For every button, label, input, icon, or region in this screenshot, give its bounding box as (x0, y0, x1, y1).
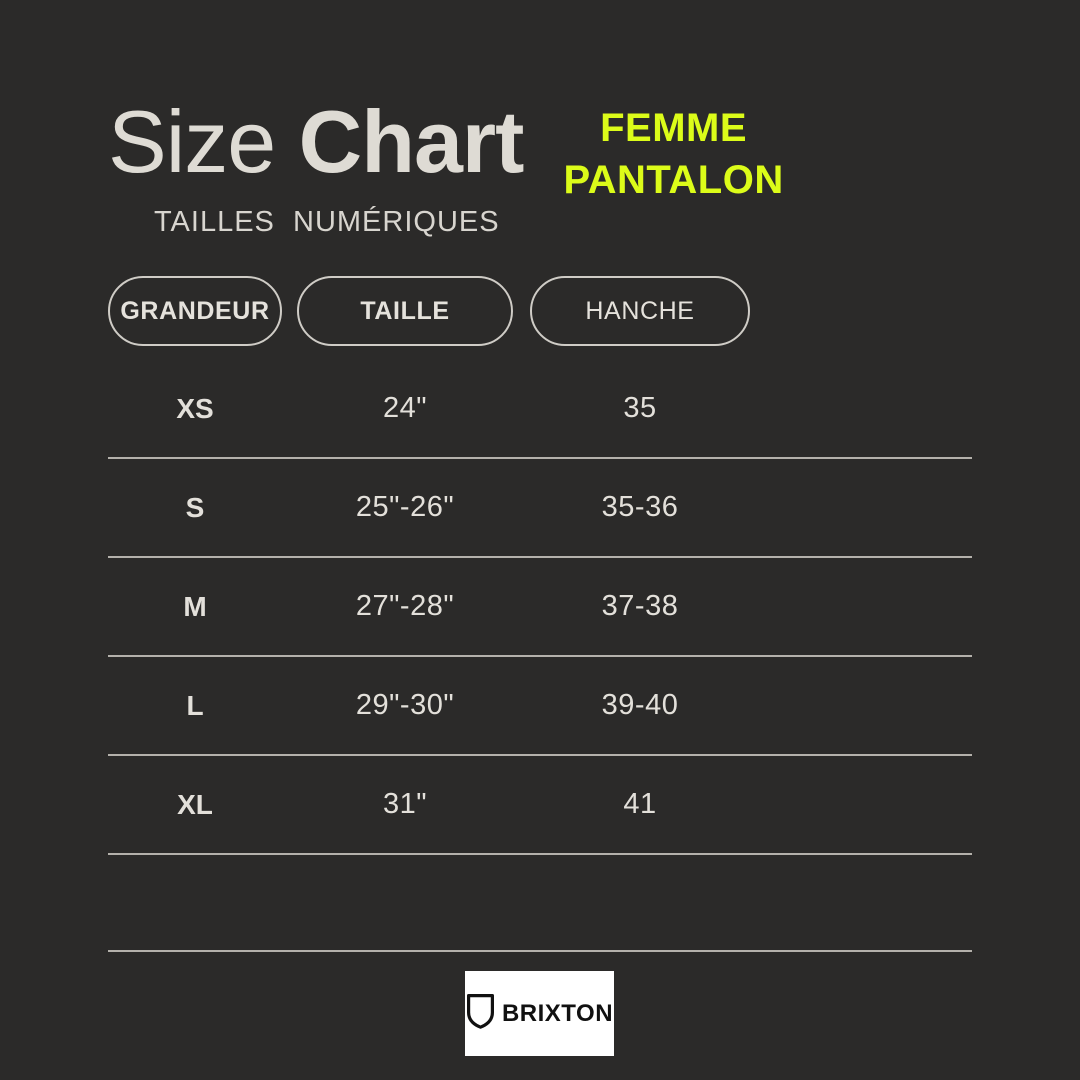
page-title-light: Size (108, 92, 275, 191)
cell-hanche: 35-36 (530, 459, 750, 556)
cell-grandeur: XL (108, 756, 282, 853)
cell-grandeur: S (108, 459, 282, 556)
cell-taille: 24" (297, 360, 513, 457)
column-header-grandeur: GRANDEUR (108, 276, 282, 346)
page-title: Size Chart (108, 96, 523, 188)
cell-grandeur: L (108, 657, 282, 754)
brixton-logo: BRIXTON (465, 971, 614, 1056)
table-bottom-rule (108, 950, 972, 952)
table-row: XL 31" 41 (108, 754, 972, 853)
table-row: XS 24" 35 (108, 360, 972, 457)
size-table: XS 24" 35 S 25"-26" 35-36 M 27"-28" 37-3… (108, 360, 972, 952)
category-label: FEMME PANTALON (563, 102, 783, 206)
cell-hanche: 35 (530, 360, 750, 457)
table-spacer-row (108, 853, 972, 950)
category-line-1: FEMME (563, 102, 783, 154)
logo-inner: BRIXTON (466, 993, 613, 1034)
cell-hanche: 39-40 (530, 657, 750, 754)
shield-icon (466, 993, 495, 1034)
chart-header: Size Chart FEMME PANTALON TAILLES NUMÉRI… (108, 96, 988, 246)
title-row: Size Chart FEMME PANTALON (108, 96, 784, 206)
table-row: S 25"-26" 35-36 (108, 457, 972, 556)
cell-taille: 25"-26" (297, 459, 513, 556)
cell-taille: 29"-30" (297, 657, 513, 754)
cell-hanche: 37-38 (530, 558, 750, 655)
size-chart-page: { "theme": { "background": "#2b2a29", "t… (0, 0, 1080, 1080)
cell-grandeur: M (108, 558, 282, 655)
page-title-bold: Chart (299, 92, 524, 191)
column-header-pills: GRANDEUR TAILLE HANCHE (108, 276, 988, 348)
column-header-taille: TAILLE (297, 276, 513, 346)
table-row: M 27"-28" 37-38 (108, 556, 972, 655)
table-row: L 29"-30" 39-40 (108, 655, 972, 754)
cell-taille: 27"-28" (297, 558, 513, 655)
cell-grandeur: XS (108, 360, 282, 457)
column-header-hanche: HANCHE (530, 276, 750, 346)
cell-taille: 31" (297, 756, 513, 853)
page-subtitle: TAILLES NUMÉRIQUES (154, 206, 500, 239)
category-line-2: PANTALON (563, 154, 783, 206)
logo-wordmark: BRIXTON (502, 1002, 613, 1026)
cell-hanche: 41 (530, 756, 750, 853)
